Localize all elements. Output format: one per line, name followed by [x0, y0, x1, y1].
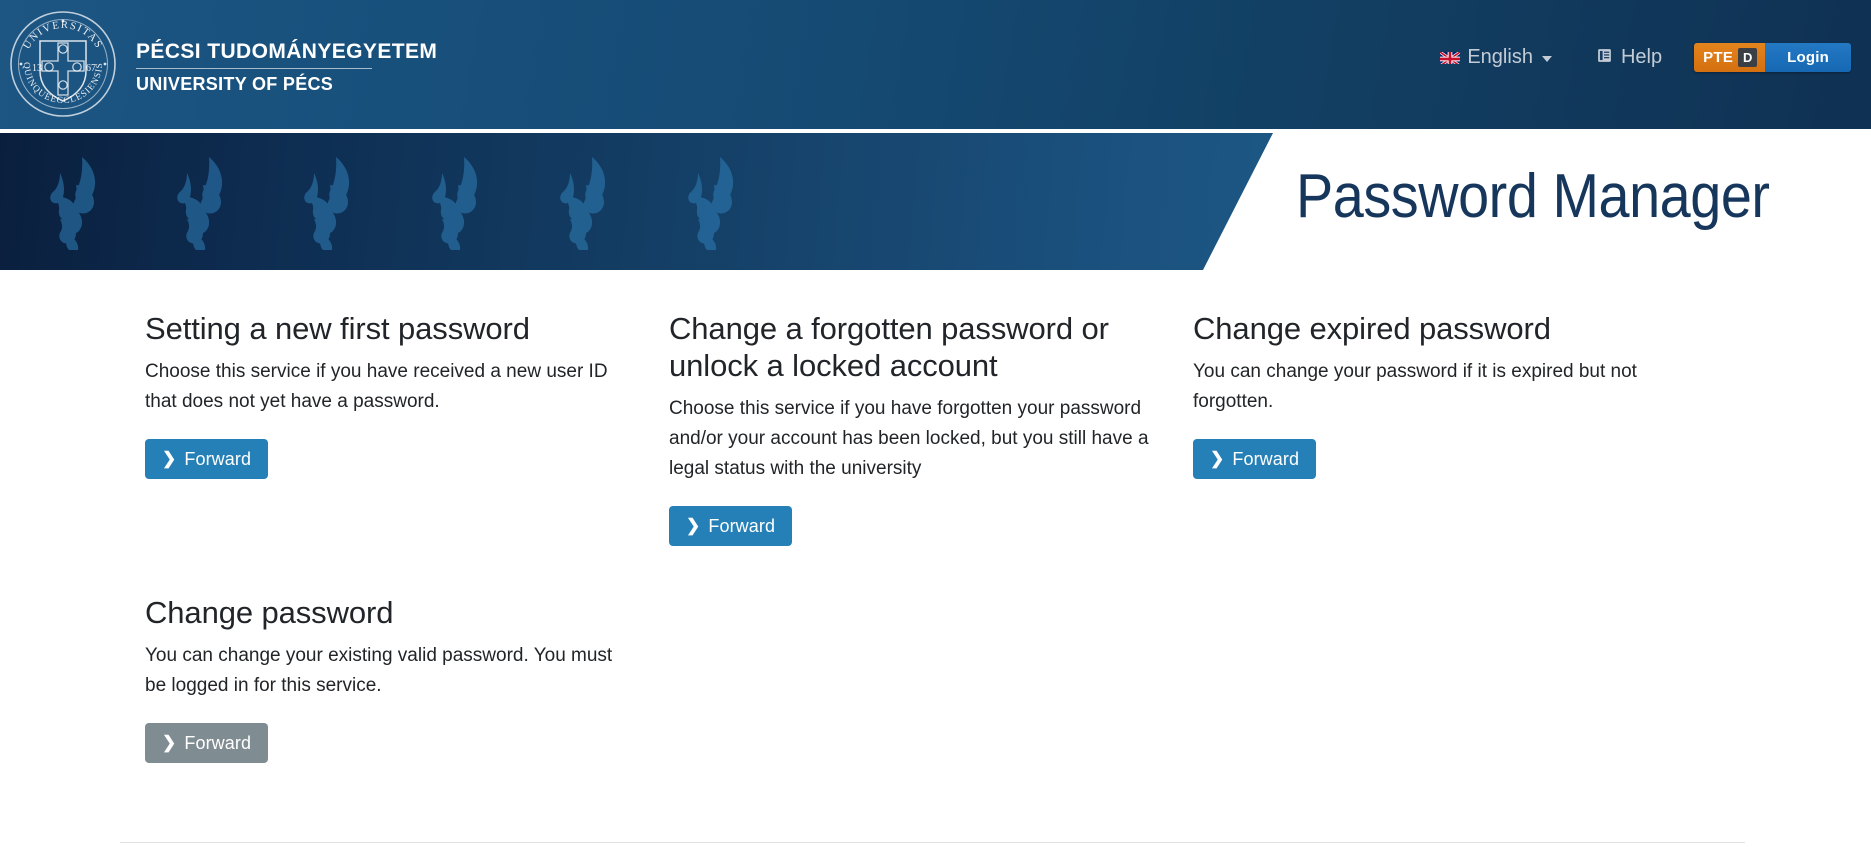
forward-button-label: Forward	[708, 516, 775, 537]
site-header: UNIVERSITAS QUINQUEECCLESIENSIS 13 67 PÉ…	[0, 0, 1871, 129]
forward-button-label: Forward	[184, 449, 251, 470]
brand-name-hu: PÉCSI TUDOMÁNYEGYETEM	[136, 39, 437, 65]
banner-ornaments	[0, 133, 1290, 270]
forward-button[interactable]: ❯ Forward	[669, 506, 792, 546]
seal-year-right: 67	[86, 63, 96, 74]
service-card-change-password: Change password You can change your exis…	[145, 554, 669, 763]
brand[interactable]: UNIVERSITAS QUINQUEECCLESIENSIS 13 67 PÉ…	[8, 4, 437, 124]
pte-id-mark-icon: D	[1738, 48, 1757, 67]
fleur-de-lis-icon	[290, 155, 368, 255]
forward-button[interactable]: ❯ Forward	[145, 439, 268, 479]
card-description: You can change your password if it is ex…	[1193, 357, 1673, 417]
fleur-de-lis-icon	[163, 155, 241, 255]
brand-divider	[136, 68, 372, 69]
chevron-right-icon: ❯	[1210, 450, 1224, 467]
book-icon	[1596, 47, 1613, 68]
fleur-de-lis-icon	[418, 155, 496, 255]
card-description: Choose this service if you have forgotte…	[669, 394, 1149, 484]
page-title: Password Manager	[1296, 161, 1770, 232]
header-tools: English Help PTE D Login	[1440, 41, 1851, 73]
service-row-1: Setting a new first password Choose this…	[145, 270, 1785, 546]
language-label: English	[1467, 47, 1533, 67]
card-title: Change expired password	[1193, 310, 1673, 347]
chevron-right-icon: ❯	[686, 517, 700, 534]
service-grid: Setting a new first password Choose this…	[145, 270, 1785, 763]
pte-login-button[interactable]: PTE D Login	[1694, 43, 1851, 72]
fleur-de-lis-icon	[546, 155, 624, 255]
brand-text: PÉCSI TUDOMÁNYEGYETEM UNIVERSITY OF PÉCS	[136, 33, 437, 96]
card-title: Change password	[145, 594, 625, 631]
svg-text:UNIVERSITAS: UNIVERSITAS	[22, 20, 105, 51]
chevron-right-icon: ❯	[162, 450, 176, 467]
fleur-de-lis-icon	[36, 155, 114, 255]
forward-button[interactable]: ❯ Forward	[1193, 439, 1316, 479]
chevron-down-icon	[1542, 56, 1552, 62]
main-content: Setting a new first password Choose this…	[0, 270, 1871, 847]
pte-label: PTE	[1703, 49, 1733, 66]
university-seal-icon: UNIVERSITAS QUINQUEECCLESIENSIS 13 67	[8, 9, 118, 119]
fleur-de-lis-icon	[674, 155, 752, 255]
card-description: Choose this service if you have received…	[145, 357, 625, 417]
brand-name-en: UNIVERSITY OF PÉCS	[136, 73, 437, 96]
card-title: Setting a new first password	[145, 310, 625, 347]
card-title: Change a forgotten password or unlock a …	[669, 310, 1149, 384]
service-card-forgotten-password: Change a forgotten password or unlock a …	[669, 270, 1193, 546]
service-card-expired-password: Change expired password You can change y…	[1193, 270, 1717, 479]
seal-year-left: 13	[32, 63, 42, 74]
forward-button-disabled[interactable]: ❯ Forward	[145, 723, 268, 763]
forward-button-label: Forward	[1232, 449, 1299, 470]
footer-divider	[120, 842, 1745, 843]
pte-id-badge: PTE D	[1694, 43, 1765, 72]
forward-button-label: Forward	[184, 733, 251, 754]
uk-flag-icon	[1440, 50, 1460, 64]
service-card-new-password: Setting a new first password Choose this…	[145, 270, 669, 479]
page-banner: Password Manager	[0, 133, 1871, 270]
card-description: You can change your existing valid passw…	[145, 641, 625, 701]
language-selector[interactable]: English	[1440, 47, 1552, 67]
login-label[interactable]: Login	[1765, 43, 1851, 72]
help-link[interactable]: Help	[1596, 47, 1662, 68]
chevron-right-icon: ❯	[162, 734, 176, 751]
service-row-2: Change password You can change your exis…	[145, 554, 1785, 763]
help-label: Help	[1621, 47, 1662, 67]
